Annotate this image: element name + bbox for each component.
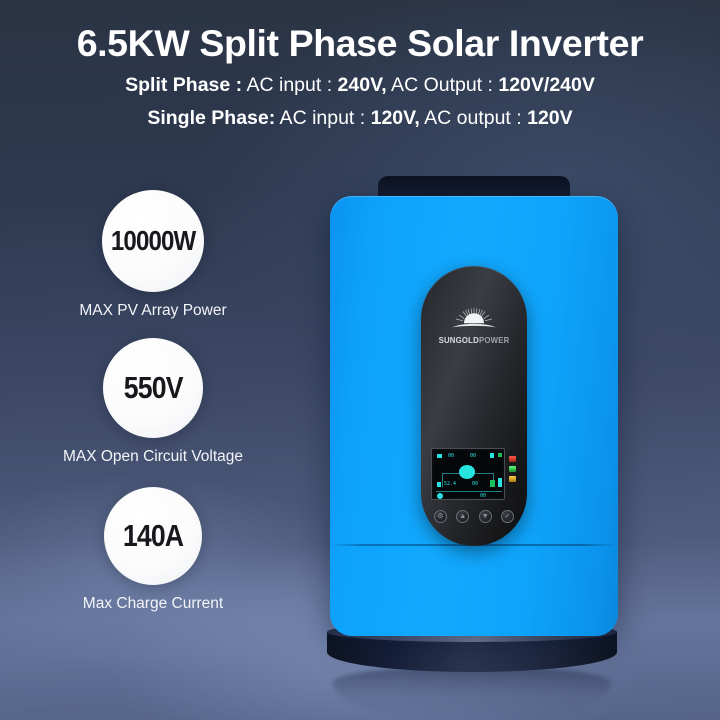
- flow-line-left: [442, 473, 443, 487]
- badge-value: 140A: [123, 518, 183, 554]
- spec-output-value-single: 120V: [522, 107, 573, 129]
- sunrise-icon: [446, 306, 502, 332]
- home-load-icon: [490, 480, 495, 487]
- spec-output-label-single: AC output :: [420, 107, 522, 129]
- brand-name-primary: SUNGOLD: [439, 335, 479, 345]
- spec-input-value-single: 120V,: [365, 107, 420, 129]
- battery-icon: [437, 482, 441, 487]
- badge-circle: 550V: [103, 338, 203, 438]
- brand-name: SUNGOLDPOWER: [425, 335, 523, 345]
- lcd-screen: 00 00 52.4 00: [434, 451, 502, 497]
- page-title: 6.5KW Split Phase Solar Inverter: [0, 22, 720, 64]
- spec-label-split-phase: Split Phase :: [125, 74, 242, 96]
- scene-background: 6.5KW Split Phase Solar Inverter Split P…: [0, 0, 720, 720]
- flow-line-bottom: [436, 491, 502, 492]
- spec-label-single-phase: Single Phase:: [147, 107, 275, 129]
- status-led-group: [509, 456, 516, 486]
- spec-line-single-phase: Single Phase: AC input : 120V, AC output…: [0, 108, 720, 129]
- badge-caption: MAX PV Array Power: [48, 302, 258, 320]
- badge-caption: MAX Open Circuit Voltage: [38, 448, 268, 466]
- badge-circle: 10000W: [102, 190, 204, 292]
- up-button[interactable]: ▲: [456, 510, 469, 523]
- lcd-ac-output: 00: [472, 481, 478, 487]
- feature-badge-open-circuit-voltage: 550V MAX Open Circuit Voltage: [38, 338, 268, 466]
- lcd-display[interactable]: 00 00 52.4 00: [431, 448, 505, 500]
- spec-input-value-split: 240V,: [332, 74, 387, 96]
- spec-line-split-phase: Split Phase : AC input : 240V, AC Output…: [0, 75, 720, 96]
- mode-icon: [437, 493, 443, 499]
- solar-inverter-product: SUNGOLDPOWER 00 00: [330, 176, 618, 636]
- spec-output-label-split: AC Output :: [387, 74, 493, 96]
- brand-logo: SUNGOLDPOWER: [421, 306, 527, 345]
- load-bar-icon: [498, 478, 502, 487]
- control-button-row: ⚙ ▲ ▼ ✓: [434, 510, 514, 523]
- grid-icon: [490, 453, 494, 458]
- down-button[interactable]: ▼: [479, 510, 492, 523]
- lcd-pv-voltage: 00: [448, 453, 454, 459]
- lcd-pv-current: 00: [470, 453, 476, 459]
- badge-caption: Max Charge Current: [50, 595, 256, 613]
- enter-button[interactable]: ✓: [501, 510, 514, 523]
- badge-circle: 140A: [104, 487, 202, 585]
- spec-input-label-single: AC input :: [275, 107, 365, 129]
- fault-led-icon: [509, 456, 516, 462]
- spec-input-label-split: AC input :: [242, 74, 332, 96]
- lcd-load-percent: 00: [480, 493, 486, 499]
- inverter-body: SUNGOLDPOWER 00 00: [330, 196, 618, 636]
- spec-output-value-split: 120V/240V: [493, 74, 595, 96]
- settings-button[interactable]: ⚙: [434, 510, 447, 523]
- charging-led-icon: [509, 476, 516, 482]
- feature-badge-pv-power: 10000W MAX PV Array Power: [48, 190, 258, 320]
- badge-value: 10000W: [111, 225, 196, 257]
- feature-badge-charge-current: 140A Max Charge Current: [50, 487, 256, 613]
- header-block: 6.5KW Split Phase Solar Inverter Split P…: [0, 0, 720, 130]
- pv-panel-icon: [437, 454, 442, 458]
- lcd-battery-voltage: 52.4: [444, 481, 456, 487]
- badge-value: 550V: [124, 370, 183, 406]
- normal-led-icon: [509, 466, 516, 472]
- inverter-unit-icon: [459, 465, 475, 479]
- status-icon: [498, 453, 502, 457]
- brand-name-secondary: POWER: [479, 335, 509, 345]
- front-panel-bezel: SUNGOLDPOWER 00 00: [421, 266, 527, 546]
